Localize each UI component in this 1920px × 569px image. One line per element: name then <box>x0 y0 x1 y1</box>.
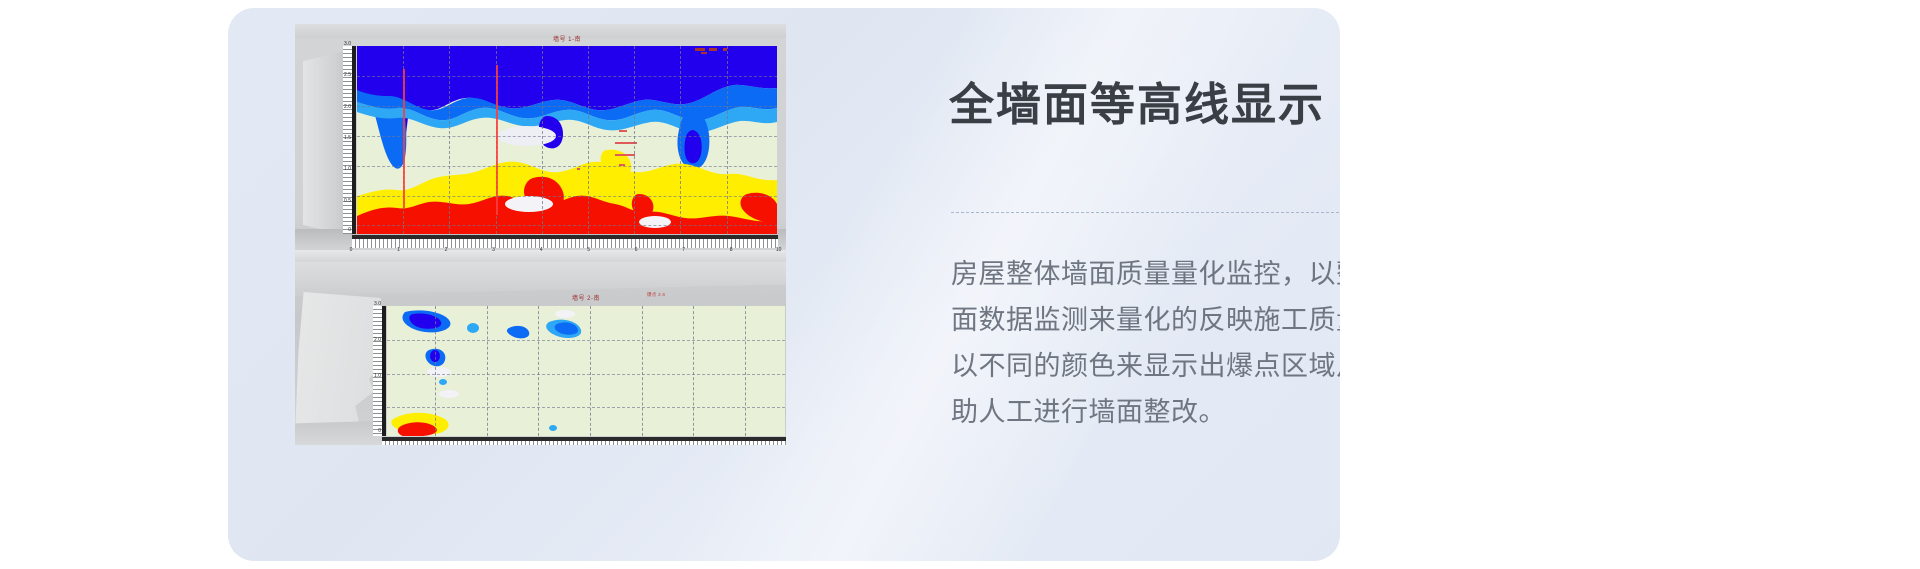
chart2-caption: 墙号 2-南 <box>387 293 785 302</box>
heatmap-panel-wall-1[interactable]: 墙号 1-南 <box>357 46 777 234</box>
chart1-gridline-v <box>634 46 635 234</box>
feature-text-panel: 全墙面等高线显示 房屋整体墙面质量量化监控，以整体墙 面数据监测来量化的反映施工… <box>775 8 1340 561</box>
chart1-gridline-h <box>357 166 777 167</box>
chart2-gridline-v <box>590 306 591 436</box>
chart2-gridline-v <box>435 306 436 436</box>
title-divider <box>951 212 1340 213</box>
chart2-gridline-v <box>693 306 694 436</box>
chart2-gridline-v <box>642 306 643 436</box>
chart1-y-tick-labels: 3.0 2.5 2.0 1.5 1.0 0.5 0 <box>311 42 351 238</box>
chart1-y-axis <box>352 46 356 234</box>
wall-contour-screenshot: 墙号 1-南 <box>295 24 786 445</box>
chart1-gridline-h <box>357 196 777 197</box>
chart2-gridline-h <box>387 407 785 408</box>
chart1-scan-line-1 <box>403 69 405 208</box>
page-root: 墙号 1-南 <box>0 0 1920 569</box>
chart1-gridline-h <box>357 76 777 77</box>
chart2-gridline-h <box>387 374 785 375</box>
feature-description: 房屋整体墙面质量量化监控，以整体墙 面数据监测来量化的反映施工质量，并 以不同的… <box>951 251 1340 435</box>
chart1-scan-line-2 <box>496 65 498 215</box>
chart2-gridline-v <box>487 306 488 436</box>
page-title: 全墙面等高线显示 <box>949 68 1325 133</box>
blow-point-annotation: 爆点 2.6 <box>647 292 665 298</box>
chart2-x-tick-strip <box>382 441 786 445</box>
description-line: 房屋整体墙面质量量化监控，以整体墙 <box>951 251 1340 297</box>
chart1-heat-layer <box>357 46 777 234</box>
chart1-gridline-v <box>449 46 450 234</box>
chart2-gridline-v <box>745 306 746 436</box>
chart1-gridline-h <box>357 136 777 137</box>
chart2-y-axis <box>382 306 386 436</box>
chart2-heat-layer <box>387 306 785 436</box>
chart1-x-tick-strip <box>352 239 778 248</box>
chart1-gridline-v <box>588 46 589 234</box>
chart1-gridline-v <box>680 46 681 234</box>
chart1-gridline-v <box>542 46 543 234</box>
chart2-gridline-v <box>538 306 539 436</box>
feature-card: 墙号 1-南 <box>228 8 1340 561</box>
heatmap-panel-wall-2[interactable]: 墙号 2-南 <box>387 306 785 436</box>
chart1-gridline-h <box>357 106 777 107</box>
chart1-plot-area <box>357 46 777 234</box>
description-line: 助人工进行墙面整改。 <box>951 389 1340 435</box>
chart1-caption: 墙号 1-南 <box>357 34 777 43</box>
description-line: 面数据监测来量化的反映施工质量，并 <box>951 297 1340 343</box>
chart1-gridline-h <box>357 225 777 226</box>
chart1-x-tick-labels: 0 1 2 3 4 5 6 7 8 10 <box>351 248 783 258</box>
chart2-y-tick-labels: 3.0 2.0 1.0 0 <box>341 302 381 440</box>
description-line: 以不同的颜色来显示出爆点区域从而帮 <box>951 343 1340 389</box>
chart2-plot-area <box>387 306 785 436</box>
chart1-gridline-v <box>727 46 728 234</box>
chart2-gridline-h <box>387 340 785 341</box>
